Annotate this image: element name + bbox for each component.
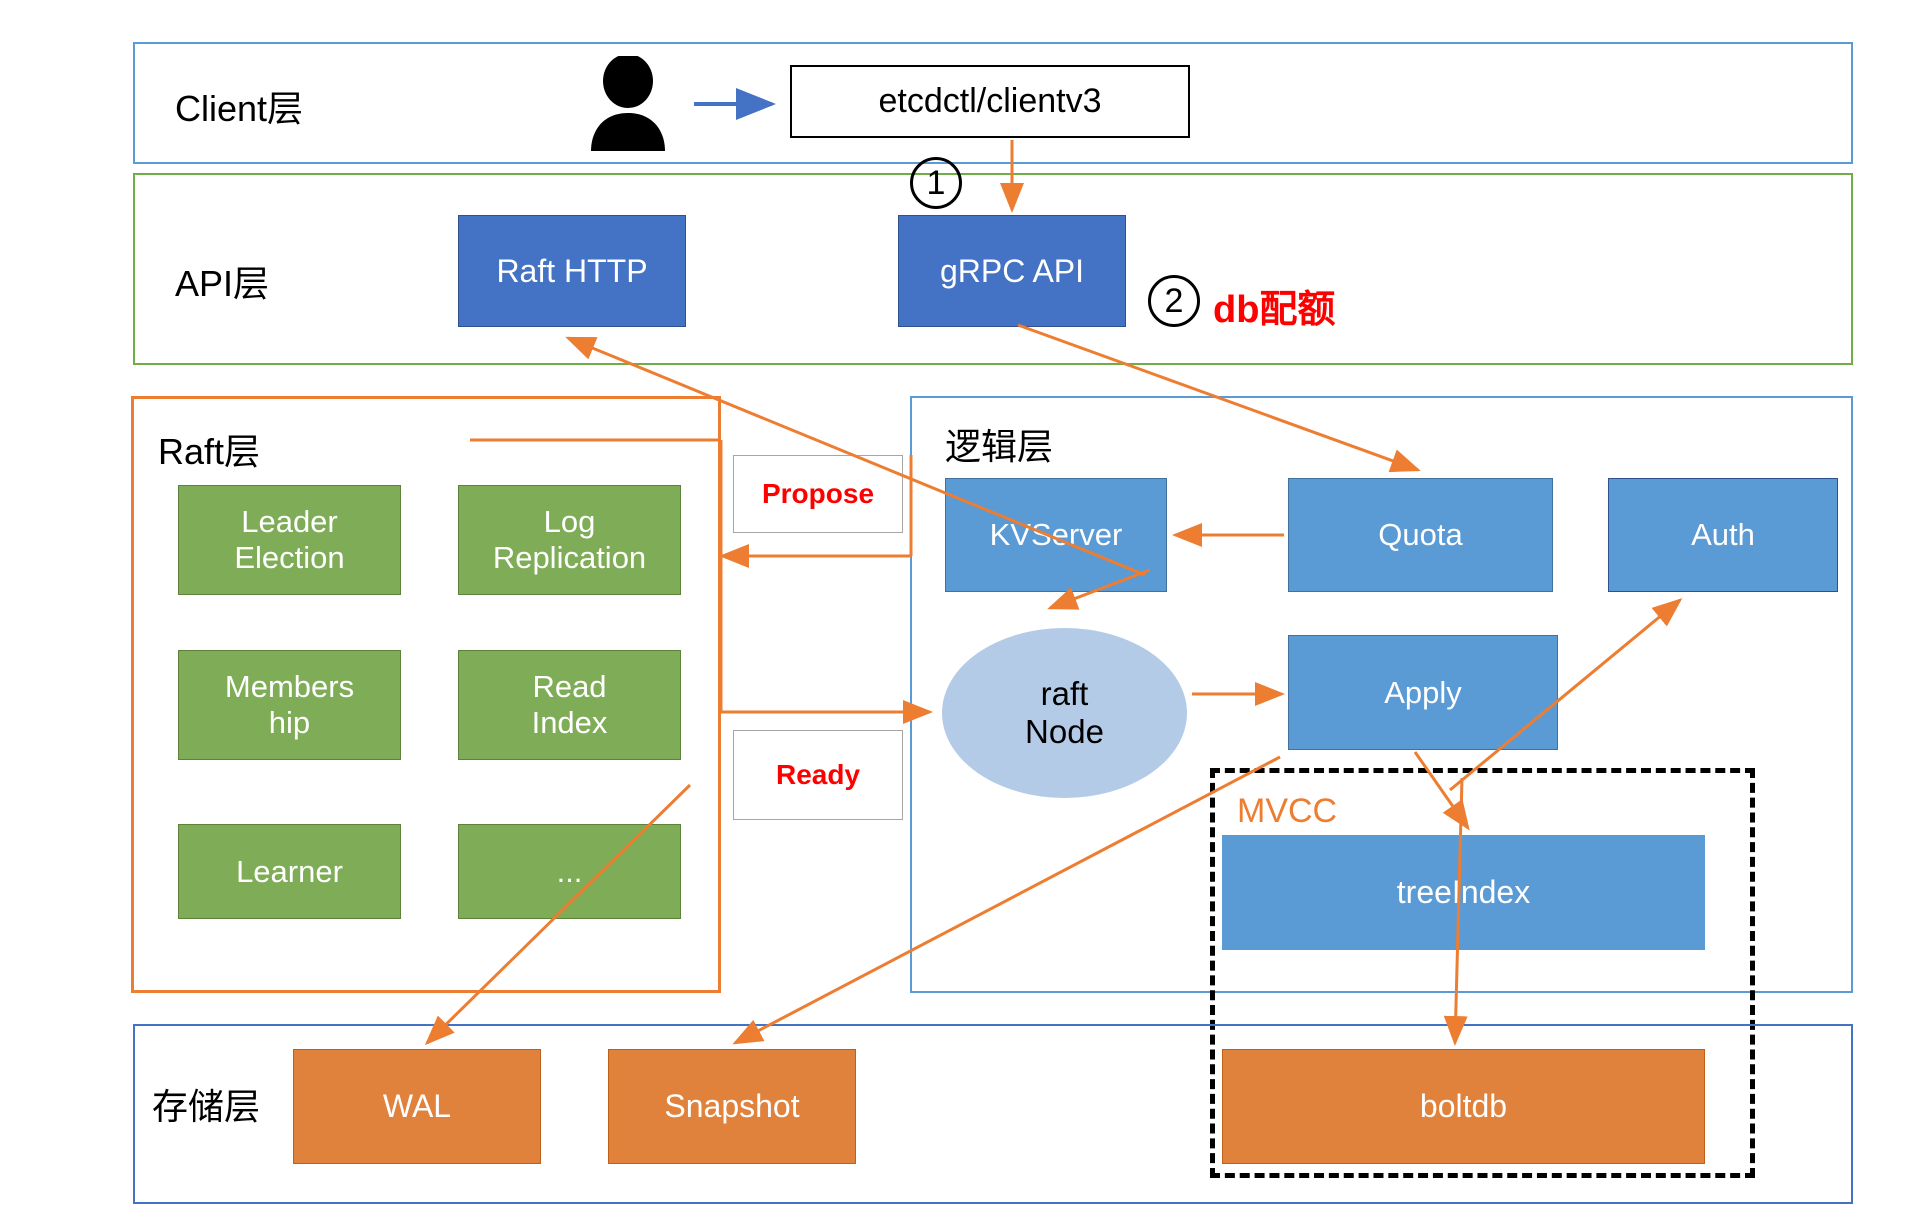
kvserver-label: KVServer [990, 517, 1123, 553]
step-one-number: 1 [927, 164, 946, 203]
boltdb-label: boltdb [1420, 1088, 1507, 1125]
raft-module-leader-election[interactable]: LeaderElection [178, 485, 401, 595]
quota-label: Quota [1378, 517, 1462, 553]
quota-box[interactable]: Quota [1288, 478, 1553, 592]
raft-node-label: raftNode [1025, 675, 1104, 751]
step-two-badge: 2 [1148, 275, 1200, 327]
raft-http-label: Raft HTTP [496, 253, 647, 290]
raft-module-log-replication[interactable]: LogReplication [458, 485, 681, 595]
wal-box[interactable]: WAL [293, 1049, 541, 1164]
grpc-api-label: gRPC API [940, 253, 1084, 290]
raft-http-box[interactable]: Raft HTTP [458, 215, 686, 327]
apply-label: Apply [1384, 675, 1462, 711]
raft-module-read-index[interactable]: ReadIndex [458, 650, 681, 760]
raft-module-label: ... [557, 854, 583, 890]
raft-layer-title: Raft层 [158, 423, 260, 475]
wal-label: WAL [383, 1088, 451, 1125]
raft-module-label: LeaderElection [234, 504, 344, 575]
step-two-number: 2 [1165, 282, 1184, 321]
person-icon [583, 56, 673, 156]
db-quota-annotation: db配额 [1213, 278, 1335, 333]
boltdb-box[interactable]: boltdb [1222, 1049, 1705, 1164]
ready-label: Ready [776, 759, 860, 791]
auth-label: Auth [1691, 517, 1755, 553]
treeindex-box[interactable]: treeIndex [1222, 835, 1705, 950]
raft-module-membership[interactable]: Membership [178, 650, 401, 760]
diagram-canvas: Client层 etcdctl/clientv3 API层 Raft HTTP … [0, 0, 1920, 1227]
propose-label-box: Propose [733, 455, 903, 533]
mvcc-label: MVCC [1237, 792, 1337, 831]
raft-module-label: LogReplication [493, 504, 646, 575]
raft-module-learner[interactable]: Learner [178, 824, 401, 919]
kvserver-box[interactable]: KVServer [945, 478, 1167, 592]
raft-module-label: Membership [225, 669, 354, 740]
propose-label: Propose [762, 478, 874, 510]
snapshot-label: Snapshot [664, 1088, 799, 1125]
client-layer-title: Client层 [175, 80, 303, 132]
etcdctl-client-box[interactable]: etcdctl/clientv3 [790, 65, 1190, 138]
snapshot-box[interactable]: Snapshot [608, 1049, 856, 1164]
auth-box[interactable]: Auth [1608, 478, 1838, 592]
step-one-badge: 1 [910, 157, 962, 209]
raft-module-label: Learner [236, 854, 343, 890]
raft-node-ellipse[interactable]: raftNode [942, 628, 1187, 798]
grpc-api-box[interactable]: gRPC API [898, 215, 1126, 327]
logic-layer-title: 逻辑层 [945, 418, 1053, 470]
raft-module-label: ReadIndex [532, 669, 608, 740]
treeindex-label: treeIndex [1397, 874, 1530, 911]
apply-box[interactable]: Apply [1288, 635, 1558, 750]
storage-layer-title: 存储层 [152, 1078, 260, 1130]
raft-module-more[interactable]: ... [458, 824, 681, 919]
api-layer-title: API层 [175, 255, 269, 307]
etcdctl-client-label: etcdctl/clientv3 [879, 82, 1102, 121]
ready-label-box: Ready [733, 730, 903, 820]
